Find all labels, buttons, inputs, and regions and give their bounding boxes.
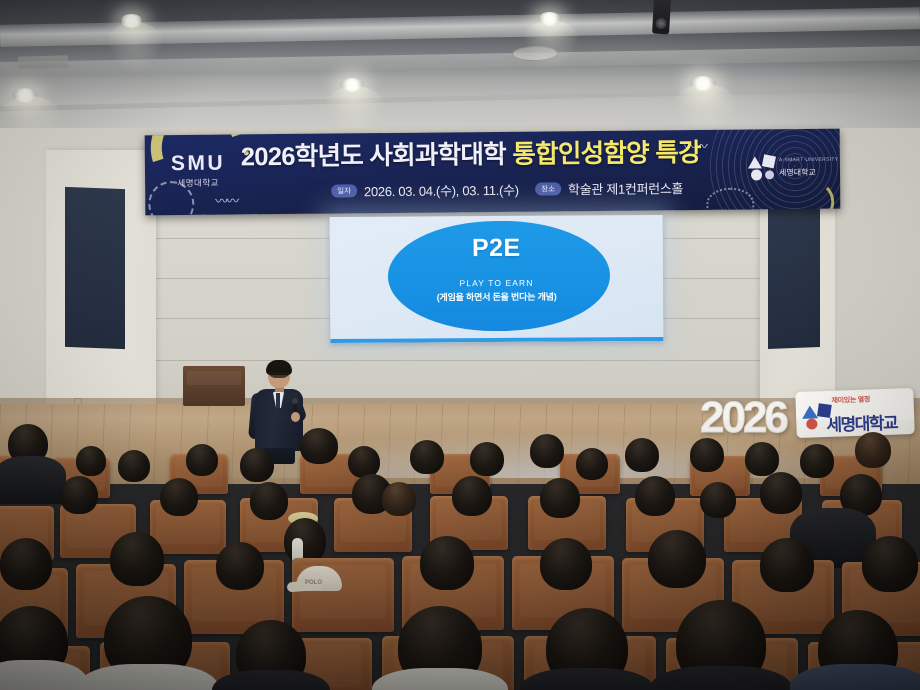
logo-kr-text: 세명대학교 <box>779 167 816 178</box>
banner-title: 2026학년도 사회과학대학 통합인성함양 특강 <box>241 137 801 174</box>
audience-head <box>745 442 779 476</box>
auditorium-photo: SMU 세명대학교 〰〰 〰〰 2026학년도 사회과학대학 통합인성함양 특강… <box>0 0 920 690</box>
downlight-glow <box>520 20 582 72</box>
downlight-glow <box>104 22 166 74</box>
banner-smu-text: SMU <box>171 153 225 175</box>
prop-triangle-icon <box>802 405 818 419</box>
audience-head <box>0 538 52 590</box>
banner-title-plain: 2026학년도 사회과학대학 <box>241 141 506 172</box>
audience-head <box>540 478 580 518</box>
audience-head <box>76 446 106 476</box>
audience-head <box>216 542 264 590</box>
audience-head <box>540 538 592 590</box>
audience-head <box>760 472 802 514</box>
banner-university-logo: A-SMART·UNIVERSITY 세명대학교 <box>748 153 820 184</box>
prop-tagline-en: 재미있는 열정 <box>831 394 870 405</box>
event-banner: SMU 세명대학교 〰〰 〰〰 2026학년도 사회과학대학 통합인성함양 특강… <box>145 129 841 216</box>
audience-jacket <box>0 456 66 504</box>
audience-head <box>452 476 492 516</box>
audience-head <box>800 444 834 478</box>
audience-head <box>300 428 338 464</box>
logo-triangle-icon <box>748 156 762 168</box>
audience-head <box>862 536 918 592</box>
audience-head <box>760 538 814 592</box>
audience-head <box>110 532 164 586</box>
audience-head <box>855 432 891 468</box>
right-acoustic-panel <box>768 187 820 349</box>
slide-subtitle-kr: (게임을 하면서 돈을 번다는 개념) <box>330 289 663 304</box>
banner-title-highlight: 통합인성함양 특강 <box>512 139 701 169</box>
audience-head <box>700 482 736 518</box>
audience-head <box>470 442 504 476</box>
audience-head <box>625 438 659 472</box>
podium <box>183 366 245 406</box>
audience-head <box>118 450 150 482</box>
audience-head <box>576 448 608 480</box>
audience-head <box>648 530 706 588</box>
slide-subtitle-en: PLAY TO EARN <box>330 277 663 289</box>
banner-date-value: 2026. 03. 04.(수), 03. 11.(수) <box>364 180 519 200</box>
audience-head <box>530 434 564 468</box>
ceiling-edge <box>0 86 920 112</box>
audience-head <box>60 476 98 514</box>
banner-date-row: 일자 2026. 03. 04.(수), 03. 11.(수) <box>331 180 519 201</box>
audience-head <box>348 446 380 478</box>
audience-area: POLO <box>0 420 920 690</box>
banner-wave-icon: 〰〰 <box>215 194 237 207</box>
banner-place-value: 학술관 제1컨퍼런스홀 <box>568 178 683 198</box>
logo-circle-icon <box>765 170 774 179</box>
banner-university-name: 세명대학교 <box>171 177 225 190</box>
audience-head <box>240 448 274 482</box>
ceiling-speaker <box>18 55 68 68</box>
logo-en-text: A-SMART·UNIVERSITY <box>779 157 839 164</box>
cap-brand-text: POLO <box>305 580 322 586</box>
audience-head <box>186 444 218 476</box>
audience-head <box>410 440 444 474</box>
audience-head <box>635 476 675 516</box>
banner-university-mark: SMU 세명대학교 <box>171 153 226 190</box>
ceiling <box>0 0 920 130</box>
ceiling-projector-icon <box>652 0 671 34</box>
audience-head <box>420 536 474 590</box>
audience-head <box>382 482 416 516</box>
left-acoustic-panel <box>65 187 125 349</box>
audience-head <box>160 478 198 516</box>
audience-head <box>250 482 288 520</box>
glasses-icon <box>269 373 289 379</box>
projection-screen: P2E PLAY TO EARN (게임을 하면서 돈을 번다는 개념) <box>330 215 664 343</box>
banner-place-row: 장소 학술관 제1컨퍼런스홀 <box>535 178 683 198</box>
logo-square-icon <box>762 154 776 168</box>
logo-circle-icon <box>751 169 762 180</box>
slide-heading: P2E <box>330 233 663 264</box>
audience-head <box>690 438 724 472</box>
banner-date-label: 일자 <box>331 185 357 198</box>
banner-place-label: 장소 <box>535 183 561 196</box>
speaker-tie <box>276 393 280 408</box>
